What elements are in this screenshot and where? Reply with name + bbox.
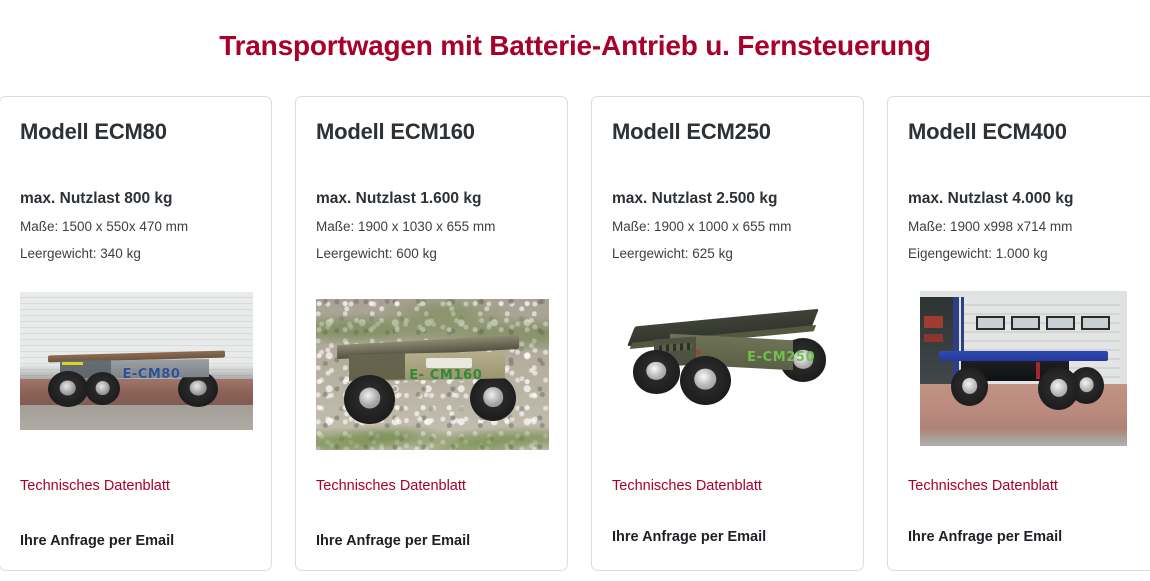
wheel-rim bbox=[1050, 379, 1067, 397]
door-window bbox=[1081, 316, 1110, 330]
wheel-rim bbox=[646, 362, 666, 380]
weight-spec: Eigengewicht: 1.000 kg bbox=[908, 236, 1139, 263]
wheel-rim bbox=[59, 380, 76, 395]
vehicle-label: E-CM250 bbox=[747, 350, 815, 365]
storage-rack bbox=[924, 334, 943, 342]
photo-scene: E-CM80 bbox=[20, 292, 253, 430]
model-title: Modell ECM160 bbox=[316, 119, 547, 145]
datasheet-link[interactable]: Technisches Datenblatt bbox=[20, 478, 170, 494]
photo-scene bbox=[920, 291, 1127, 446]
door-window bbox=[1011, 316, 1040, 330]
dimensions-spec: Maße: 1500 x 550x 470 mm bbox=[20, 209, 251, 236]
product-photo-ecm400 bbox=[920, 291, 1127, 446]
yellow-accent-strip bbox=[62, 362, 83, 365]
datasheet-link[interactable]: Technisches Datenblatt bbox=[612, 478, 762, 494]
door-window bbox=[976, 316, 1005, 330]
product-card-grid: Modell ECM80 max. Nutzlast 800 kg Maße: … bbox=[0, 96, 1150, 571]
card-text-block: Modell ECM80 max. Nutzlast 800 kg Maße: … bbox=[0, 97, 271, 263]
photo-scene: E-CM250 bbox=[612, 292, 845, 437]
red-accent-stripe bbox=[1036, 362, 1040, 379]
floor-grit-strip bbox=[20, 405, 253, 430]
product-page: Transportwagen mit Batterie-Antrieb u. F… bbox=[0, 0, 1150, 581]
vehicle-badge bbox=[426, 358, 473, 369]
wheel-rim bbox=[1079, 377, 1094, 393]
product-card-ecm80[interactable]: Modell ECM80 max. Nutzlast 800 kg Maße: … bbox=[0, 96, 272, 571]
dimensions-spec: Maße: 1900 x998 x714 mm bbox=[908, 209, 1139, 236]
payload-spec: max. Nutzlast 4.000 kg bbox=[908, 145, 1139, 209]
grass-tufts bbox=[316, 405, 549, 450]
email-inquiry-link[interactable]: Ihre Anfrage per Email bbox=[908, 529, 1062, 545]
vehicle-label: E-CM80 bbox=[123, 367, 181, 382]
payload-spec: max. Nutzlast 2.500 kg bbox=[612, 145, 843, 209]
dimensions-spec: Maße: 1900 x 1000 x 655 mm bbox=[612, 209, 843, 236]
tyre-front-left bbox=[633, 350, 680, 394]
model-title: Modell ECM400 bbox=[908, 119, 1139, 145]
card-text-block: Modell ECM160 max. Nutzlast 1.600 kg Maß… bbox=[296, 97, 567, 263]
wheel-rim bbox=[190, 380, 207, 395]
email-inquiry-link[interactable]: Ihre Anfrage per Email bbox=[20, 533, 174, 549]
product-card-ecm160[interactable]: Modell ECM160 max. Nutzlast 1.600 kg Maß… bbox=[295, 96, 568, 571]
weight-spec: Leergewicht: 340 kg bbox=[20, 236, 251, 263]
vehicle-label: E- CM160 bbox=[409, 368, 482, 383]
product-photo-ecm80: E-CM80 bbox=[20, 292, 253, 430]
wheel-rim bbox=[694, 369, 716, 390]
product-photo-ecm160: E- CM160 bbox=[316, 299, 549, 450]
tyre-front-right bbox=[680, 356, 731, 405]
wheel-rim bbox=[95, 381, 110, 395]
marker-lamp bbox=[696, 350, 700, 354]
model-title: Modell ECM250 bbox=[612, 119, 843, 145]
wheel-rim bbox=[962, 377, 978, 393]
email-inquiry-link[interactable]: Ihre Anfrage per Email bbox=[316, 533, 470, 549]
datasheet-link[interactable]: Technisches Datenblatt bbox=[908, 478, 1058, 494]
model-title: Modell ECM80 bbox=[20, 119, 251, 145]
door-window bbox=[1046, 316, 1075, 330]
payload-spec: max. Nutzlast 1.600 kg bbox=[316, 145, 547, 209]
dimensions-spec: Maße: 1900 x 1030 x 655 mm bbox=[316, 209, 547, 236]
card-text-block: Modell ECM250 max. Nutzlast 2.500 kg Maß… bbox=[592, 97, 863, 263]
weight-spec: Leergewicht: 600 kg bbox=[316, 236, 547, 263]
cargo-deck bbox=[939, 351, 1109, 360]
email-inquiry-link[interactable]: Ihre Anfrage per Email bbox=[612, 529, 766, 545]
product-card-ecm250[interactable]: Modell ECM250 max. Nutzlast 2.500 kg Maß… bbox=[591, 96, 864, 571]
card-text-block: Modell ECM400 max. Nutzlast 4.000 kg Maß… bbox=[888, 97, 1150, 263]
tyre-front bbox=[951, 367, 988, 406]
weight-spec: Leergewicht: 625 kg bbox=[612, 236, 843, 263]
storage-rack bbox=[924, 316, 943, 328]
product-photo-ecm250: E-CM250 bbox=[612, 292, 845, 437]
product-card-ecm400[interactable]: Modell ECM400 max. Nutzlast 4.000 kg Maß… bbox=[887, 96, 1150, 571]
photo-scene: E- CM160 bbox=[316, 299, 549, 450]
tyre-front bbox=[48, 371, 88, 407]
page-title: Transportwagen mit Batterie-Antrieb u. F… bbox=[0, 30, 1150, 62]
datasheet-link[interactable]: Technisches Datenblatt bbox=[316, 478, 466, 494]
payload-spec: max. Nutzlast 800 kg bbox=[20, 145, 251, 209]
